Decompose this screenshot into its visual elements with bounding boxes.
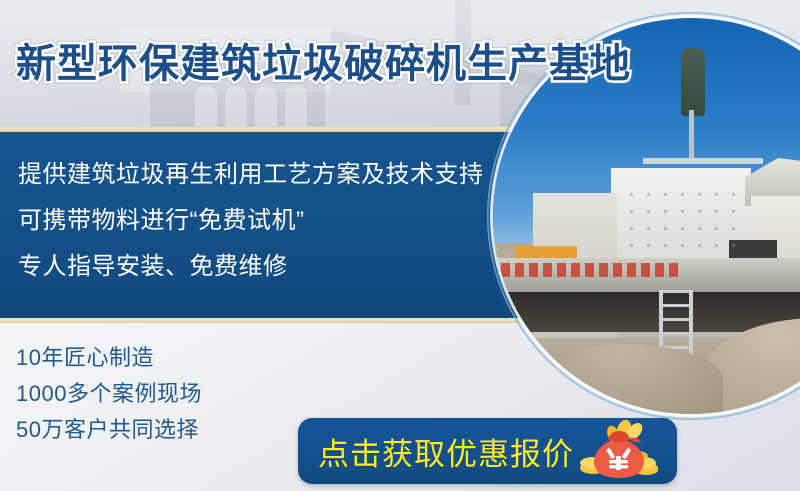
- stat-line-1: 10年匠心制造: [16, 340, 202, 376]
- feature-list: 提供建筑垃圾再生利用工艺方案及技术支持 可携带物料进行“免费试机” 专人指导安装…: [18, 152, 484, 290]
- promo-banner: 新型环保建筑垃圾破碎机生产基地 新型环保建筑垃圾破碎机生产基地 提供建筑垃圾再生…: [0, 0, 800, 491]
- page-title: 新型环保建筑垃圾破碎机生产基地: [16, 40, 631, 88]
- money-bag-icon: [580, 420, 658, 482]
- stat-line-3: 50万客户共同选择: [16, 412, 202, 448]
- get-quote-button-label: 点击获取优惠报价: [318, 429, 574, 474]
- feature-line-2: 可携带物料进行“免费试机”: [18, 198, 484, 244]
- stats-list: 10年匠心制造 1000多个案例现场 50万客户共同选择: [16, 340, 202, 448]
- feature-line-1: 提供建筑垃圾再生利用工艺方案及技术支持: [18, 152, 484, 198]
- feature-line-3: 专人指导安装、免费维修: [18, 244, 484, 290]
- get-quote-button[interactable]: 点击获取优惠报价: [298, 418, 677, 484]
- stat-line-2: 1000多个案例现场: [16, 376, 202, 412]
